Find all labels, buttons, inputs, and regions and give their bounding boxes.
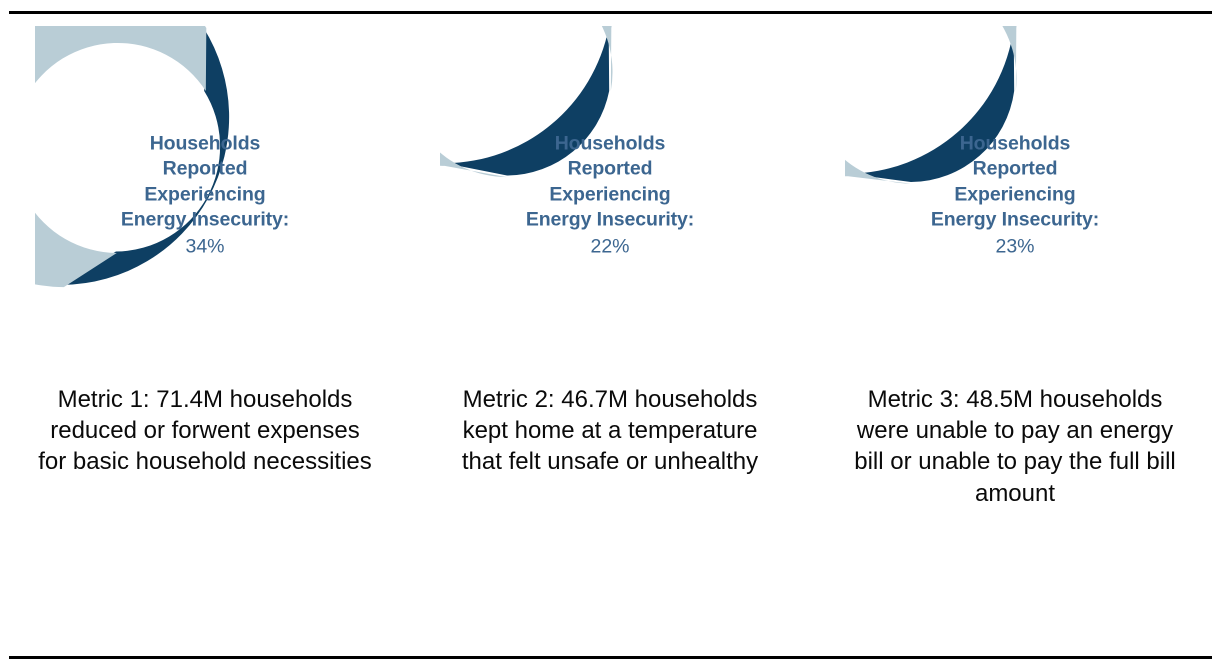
donut-slice-metric-3-0	[849, 28, 1015, 182]
donut-chart-metric-1: Households Reported Experiencing Energy …	[35, 26, 375, 366]
donut-slices-metric-3	[845, 26, 1017, 184]
donut-chart-metric-2: Households Reported Experiencing Energy …	[440, 26, 780, 366]
donut-svg-metric-1	[35, 26, 375, 366]
donut-caption-metric-1: Metric 1: 71.4M households reduced or fo…	[35, 384, 375, 478]
donut-chart-metric-3: Households Reported Experiencing Energy …	[845, 26, 1185, 366]
bottom-divider-rule	[9, 656, 1212, 659]
donut-svg-metric-2	[440, 26, 780, 366]
donut-caption-metric-2: Metric 2: 46.7M households kept home at …	[440, 384, 780, 478]
donut-panel-metric-2: Households Reported Experiencing Energy …	[420, 26, 800, 478]
donut-svg-metric-3	[845, 26, 1185, 366]
donut-slice-metric-2-0	[445, 28, 609, 176]
donut-slices-metric-2	[440, 26, 614, 177]
top-divider-rule	[9, 11, 1212, 14]
donut-panel-metric-1: Households Reported Experiencing Energy …	[15, 26, 395, 478]
donut-slices-metric-1	[35, 26, 229, 287]
donut-panels-row: Households Reported Experiencing Energy …	[0, 26, 1220, 641]
donut-slice-metric-1-1	[35, 26, 206, 287]
energy-insecurity-figure: Households Reported Experiencing Energy …	[0, 0, 1220, 670]
donut-panel-metric-3: Households Reported Experiencing Energy …	[825, 26, 1205, 509]
donut-caption-metric-3: Metric 3: 48.5M households were unable t…	[845, 384, 1185, 509]
